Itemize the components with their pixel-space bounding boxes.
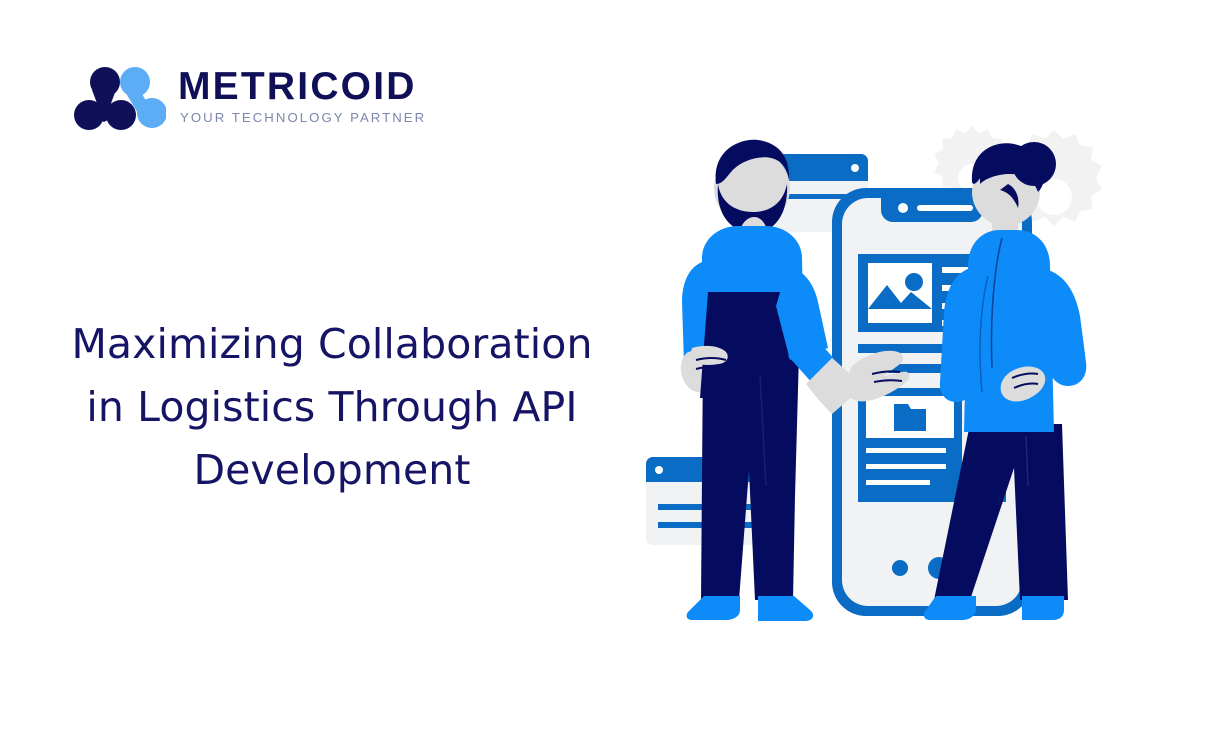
logo-wordmark: METRICOID YOUR TECHNOLOGY PARTNER [178,68,426,125]
brand-logo[interactable]: METRICOID YOUR TECHNOLOGY PARTNER [74,60,426,134]
hero-illustration [636,126,1166,641]
logo-company-name: METRICOID [178,68,426,106]
page-root: METRICOID YOUR TECHNOLOGY PARTNER Maximi… [0,0,1227,755]
molecule-nodes-icon [74,60,166,134]
logo-tagline: YOUR TECHNOLOGY PARTNER [180,110,426,126]
image-placeholder-icon [868,263,932,326]
page-title: Maximizing Collaboration in Logistics Th… [62,313,602,501]
